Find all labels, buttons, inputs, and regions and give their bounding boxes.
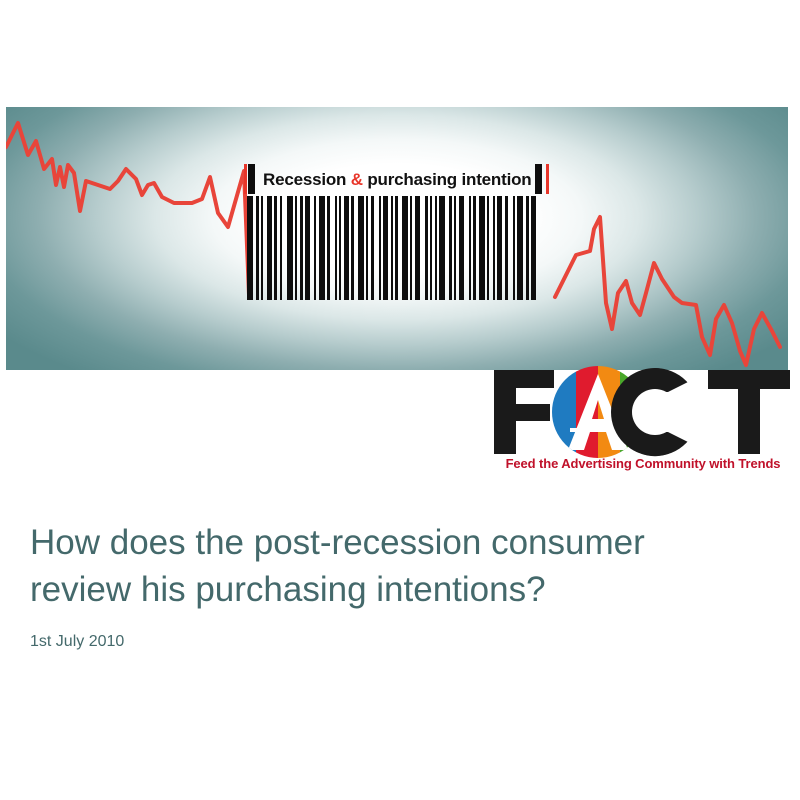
barcode-title-bar: Recession & purchasing intention xyxy=(244,164,552,194)
barcode-bar xyxy=(327,196,330,300)
barcode-bar xyxy=(479,196,485,300)
fact-letter-f xyxy=(494,370,554,454)
barcode-bar xyxy=(358,196,364,300)
barcode-right-red-edge xyxy=(546,164,549,194)
barcode-bar xyxy=(256,196,259,300)
barcode-bar xyxy=(267,196,272,300)
barcode-title-part-1: Recession xyxy=(263,170,351,189)
barcode-right-guard-bar xyxy=(535,164,542,194)
barcode-bar xyxy=(379,196,381,300)
barcode-bar xyxy=(274,196,277,300)
barcode-left-guard-bar xyxy=(248,164,255,194)
barcode-bar xyxy=(439,196,445,300)
barcode-right-guard-group xyxy=(534,164,549,194)
barcode-bar xyxy=(531,196,536,300)
barcode-bar xyxy=(435,196,437,300)
barcode-bar xyxy=(395,196,398,300)
barcode-bar xyxy=(371,196,374,300)
barcode-bar xyxy=(300,196,303,300)
barcode-bar xyxy=(402,196,408,300)
barcode-bar xyxy=(517,196,523,300)
barcode-bar xyxy=(314,196,316,300)
barcode-bar xyxy=(459,196,464,300)
barcode-bar xyxy=(526,196,529,300)
fact-wordmark-icon xyxy=(492,366,792,458)
barcode-title-text: Recession & purchasing intention xyxy=(255,171,537,188)
page-date: 1st July 2010 xyxy=(30,633,770,651)
barcode-bar xyxy=(430,196,432,300)
fact-tagline: Feed the Advertising Community with Tren… xyxy=(494,456,792,471)
barcode-bar xyxy=(383,196,388,300)
barcode-bars xyxy=(247,196,540,300)
barcode-bar xyxy=(305,196,310,300)
barcode-bar xyxy=(335,196,337,300)
barcode-bar xyxy=(295,196,297,300)
barcode-bar xyxy=(344,196,349,300)
barcode-title-ampersand: & xyxy=(351,170,363,189)
barcode-bar xyxy=(247,196,253,300)
barcode-bar xyxy=(497,196,502,300)
barcode-bar xyxy=(366,196,368,300)
barcode-bar xyxy=(449,196,452,300)
barcode-bar xyxy=(425,196,428,300)
barcode-bar xyxy=(280,196,282,300)
barcode-bar xyxy=(505,196,508,300)
barcode-bar xyxy=(410,196,412,300)
barcode-block: Recession & purchasing intention xyxy=(244,164,552,300)
barcode-bar xyxy=(487,196,489,300)
barcode-bar xyxy=(351,196,354,300)
barcode-bar xyxy=(493,196,495,300)
barcode-bar xyxy=(287,196,293,300)
barcode-bar xyxy=(391,196,393,300)
barcode-bar xyxy=(415,196,420,300)
barcode-bar xyxy=(469,196,471,300)
barcode-bar xyxy=(513,196,515,300)
barcode-left-red-edge xyxy=(244,164,247,194)
fact-letter-t xyxy=(708,370,790,454)
barcode-bar xyxy=(339,196,341,300)
barcode-bar xyxy=(261,196,263,300)
barcode-bar xyxy=(319,196,325,300)
title-block: How does the post-recession consumer rev… xyxy=(30,520,770,651)
barcode-bar xyxy=(454,196,456,300)
fact-logo: Feed the Advertising Community with Tren… xyxy=(492,366,792,482)
barcode-title-part-2: purchasing intention xyxy=(363,170,532,189)
page-title: How does the post-recession consumer rev… xyxy=(30,520,770,613)
barcode-bar xyxy=(473,196,476,300)
